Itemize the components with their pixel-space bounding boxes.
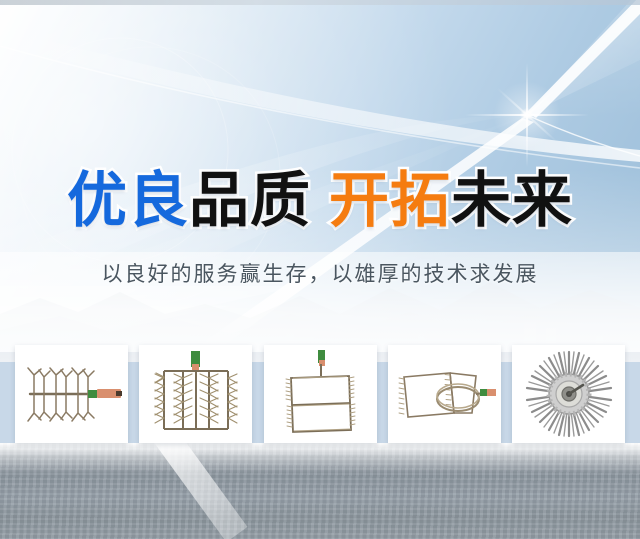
radial-spike-disc-wheel-icon <box>523 350 615 438</box>
product-card[interactable] <box>512 345 625 443</box>
product-card[interactable] <box>139 345 252 443</box>
top-edge-band <box>0 0 640 5</box>
product-card[interactable] <box>388 345 501 443</box>
promo-banner: 优良品质开拓未来 以良好的服务赢生存，以雄厚的技术求发展 <box>0 0 640 539</box>
subtitle: 以良好的服务赢生存，以雄厚的技术求发展 <box>0 258 640 290</box>
product-card[interactable] <box>15 345 128 443</box>
headline-part-4: 未来 <box>451 165 573 237</box>
flat-panel-pin-frame-icon <box>281 350 359 438</box>
headline: 优良品质开拓未来 <box>0 165 640 237</box>
floor-sheen <box>0 443 640 473</box>
branched-tine-rake-icon <box>20 355 124 433</box>
product-card-row <box>15 345 625 443</box>
headline-part-1: 优良 <box>67 165 189 237</box>
concrete-floor-icon <box>0 443 640 539</box>
square-frame-coil-ring-icon <box>392 363 496 425</box>
headline-part-2: 品质 <box>189 165 311 237</box>
headline-part-3: 开拓 <box>329 165 451 237</box>
product-card[interactable] <box>264 345 377 443</box>
double-row-spike-rack-icon <box>150 351 242 437</box>
